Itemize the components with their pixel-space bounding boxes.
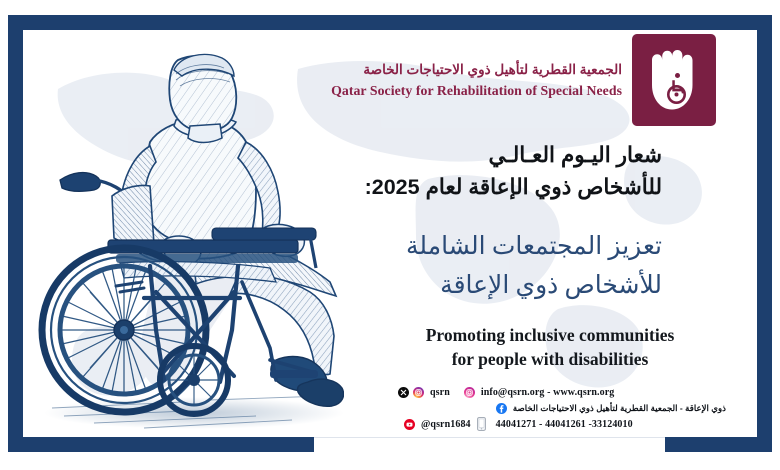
organization-name-english: Qatar Society for Rehabilitation of Spec… [202, 82, 622, 101]
slogan-arabic-line-2: للأشخاص ذوي الإعاقة [117, 267, 662, 306]
poster-canvas: الجمعية القطرية لتأهيل ذوي الاحتياجات ال… [0, 0, 780, 470]
facebook-icon[interactable] [496, 403, 507, 414]
frame-border-bottom-left [8, 437, 314, 452]
slogan-arabic-line-1: تعزيز المجتمعات الشاملة [117, 228, 662, 267]
email-and-website[interactable]: info@qsrn.org - www.qsrn.org [481, 387, 615, 398]
youtube-icon[interactable] [404, 419, 415, 430]
slogan-english-line-1: Promoting inclusive communities [352, 323, 748, 347]
contact-footer: qsrn info@qsrn.org - [398, 384, 728, 432]
facebook-page-name[interactable]: ذوي الإعاقة - الجمعية القطرية لتأهيل ذوي… [513, 403, 726, 414]
x-twitter-icon[interactable] [398, 387, 409, 398]
hand-wheelchair-logo-icon [632, 34, 716, 126]
frame-border-right [757, 15, 772, 452]
headline-line-2: للأشخاص ذوي الإعاقة لعام 2025: [117, 172, 662, 204]
frame-border-bottom-right [665, 437, 772, 452]
frame-border-top [8, 15, 772, 30]
slogan-arabic: تعزيز المجتمعات الشاملة للأشخاص ذوي الإع… [117, 228, 662, 306]
headline-line-1: شعار اليـوم العـالـي [117, 140, 662, 172]
mobile-phone-icon [477, 417, 486, 431]
organization-name-block: الجمعية القطرية لتأهيل ذوي الاحتياجات ال… [202, 60, 622, 100]
phone-numbers: 44041271 - 44041261 -33124010 [496, 419, 633, 430]
page-title: شعار اليـوم العـالـي للأشخاص ذوي الإعاقة… [117, 140, 662, 204]
contact-row-social: qsrn info@qsrn.org - [398, 384, 728, 400]
organization-name-arabic: الجمعية القطرية لتأهيل ذوي الاحتياجات ال… [202, 60, 622, 80]
frame-border-left [8, 15, 23, 452]
youtube-channel[interactable]: @qsrn1684 [421, 419, 471, 430]
instagram-icon[interactable] [413, 387, 424, 398]
social-handle: qsrn [430, 387, 450, 398]
slogan-english-line-2: for people with disabilities [352, 347, 748, 371]
contact-row-youtube-phone: @qsrn1684 44041271 - 44041261 -33124010 [398, 416, 728, 432]
email-circle-icon[interactable] [464, 387, 475, 398]
contact-row-facebook: ذوي الإعاقة - الجمعية القطرية لتأهيل ذوي… [398, 400, 728, 416]
slogan-english: Promoting inclusive communities for peop… [352, 323, 748, 371]
